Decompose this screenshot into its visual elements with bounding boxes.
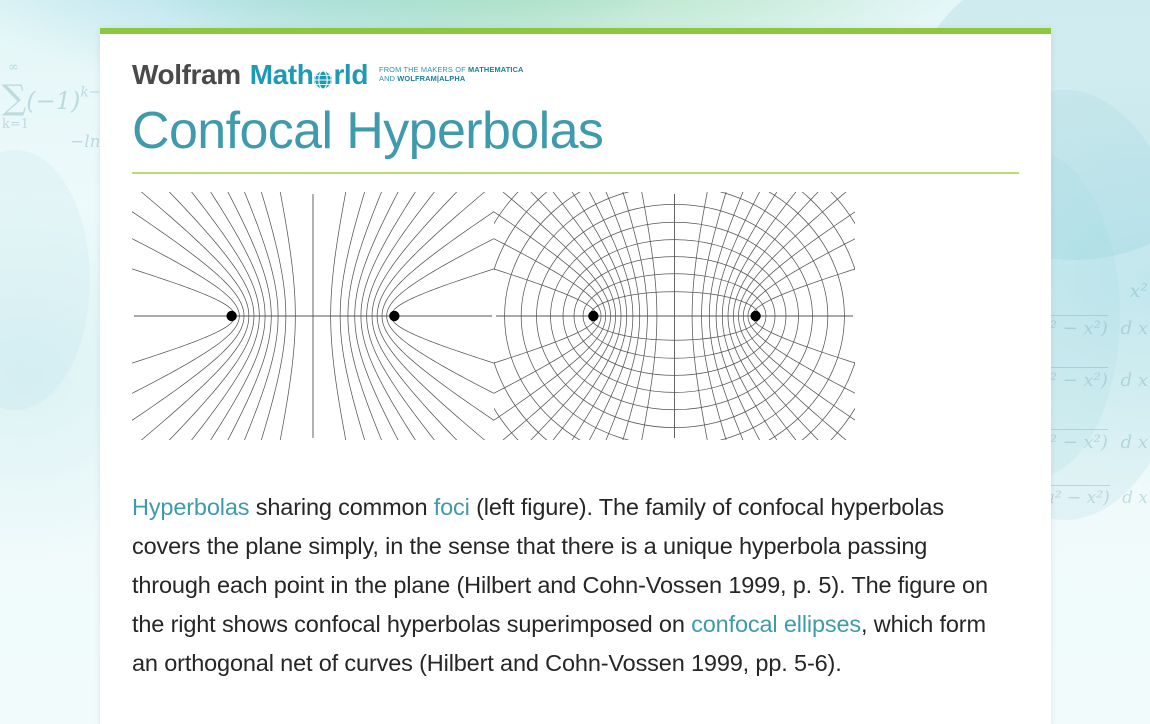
focus-point — [389, 311, 399, 321]
background-formula-ln: −ln — [70, 132, 101, 152]
background-formula-int-5: (a² − x²) d x — [1038, 488, 1148, 508]
logo-world-text: rld — [333, 60, 368, 90]
globe-icon — [313, 66, 333, 86]
link-hyperbolas[interactable]: Hyperbolas — [132, 494, 249, 520]
body-text-1: sharing common — [249, 494, 433, 520]
logo-tagline: FROM THE MAKERS OF MATHEMATICA AND WOLFR… — [379, 65, 524, 84]
article-body: Hyperbolas sharing common foci (left fig… — [132, 488, 1004, 683]
title-divider — [132, 172, 1019, 174]
conic-figure-svg — [132, 192, 855, 440]
link-confocal-ellipses[interactable]: confocal ellipses — [691, 611, 861, 637]
content-card: Wolfram Math rld FROM THE MAKERS OF M — [100, 28, 1051, 724]
site-logo[interactable]: Wolfram Math rld FROM THE MAKERS OF M — [132, 60, 1019, 92]
logo-tagline-line2: AND WOLFRAM|ALPHA — [379, 74, 524, 83]
logo-wolfram-text: Wolfram — [132, 60, 241, 90]
focus-point — [226, 311, 236, 321]
page-title: Confocal Hyperbolas — [132, 100, 1019, 162]
background-formula-sum: ∞ ∑ k=1 (−1)k−1 — [2, 78, 110, 118]
logo-tagline-line1: FROM THE MAKERS OF MATHEMATICA — [379, 65, 524, 74]
focus-point — [750, 311, 760, 321]
logo-mathworld-text: Math rld — [250, 60, 368, 90]
link-foci[interactable]: foci — [434, 494, 470, 520]
background-formula-int-1: x² — [1130, 280, 1148, 302]
focus-point — [588, 311, 598, 321]
confocal-hyperbolas-figure — [132, 192, 855, 440]
logo-math-text: Math — [250, 60, 314, 90]
